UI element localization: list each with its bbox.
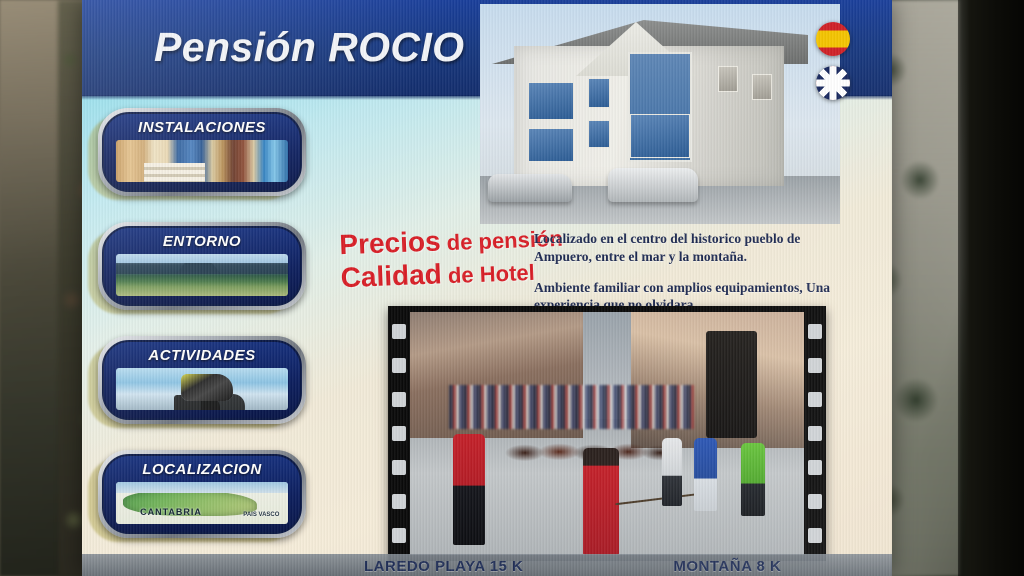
bottom-info-strip: LAREDO PLAYA 15 KMONTAÑA 8 K [82, 554, 892, 576]
window [588, 78, 610, 108]
window [528, 82, 574, 120]
pill-inner: LOCALIZACION CANTABRIA PAIS VASCO [102, 454, 302, 534]
map-region-label: CANTABRIA [140, 507, 202, 517]
pill-frame: INSTALACIONES [98, 108, 306, 196]
bottom-strip-text: LAREDO PLAYA 15 KMONTAÑA 8 K [364, 558, 781, 575]
doorway [706, 331, 757, 438]
building-photo [480, 4, 840, 224]
price-headline-rest2: de Hotel [441, 260, 535, 289]
runner-green-shirt [741, 443, 765, 516]
pill-inner: ENTORNO [102, 226, 302, 306]
bottom-strip-right-text: MONTAÑA 8 K [673, 558, 781, 575]
parked-car [608, 168, 698, 202]
window [528, 128, 574, 162]
quad-bike-thumbnail [116, 368, 288, 410]
british-flag-icon[interactable] [816, 66, 850, 100]
price-headline-word-precios: Precios [339, 225, 441, 260]
page-title: Pensión ROCIO [154, 24, 464, 71]
sidebar-item-instalaciones[interactable]: INSTALACIONES [98, 108, 306, 196]
price-headline: Precios de pensión Calidad de Hotel [339, 220, 565, 295]
pill-inner: ACTIVIDADES [102, 340, 302, 420]
filmstrip-sprockets-right [808, 314, 822, 553]
sidebar-item-actividades[interactable]: ACTIVIDADES [98, 336, 306, 424]
runner-white-shirt [662, 438, 682, 506]
cantabria-map-thumbnail: CANTABRIA PAIS VASCO [116, 482, 288, 524]
runner-red-shirt [583, 448, 618, 555]
spanish-flag-icon[interactable] [816, 22, 850, 56]
crowd [449, 385, 693, 429]
sidebar-nav: INSTALACIONES ENTORNO [98, 108, 324, 564]
sidebar-item-label: LOCALIZACION [104, 461, 300, 478]
window [630, 114, 690, 158]
pill-frame: LOCALIZACION CANTABRIA PAIS VASCO [98, 450, 306, 538]
map-neighbour-label: PAIS VASCO [243, 512, 279, 518]
window [752, 74, 772, 100]
sidebar-item-entorno[interactable]: ENTORNO [98, 222, 306, 310]
runner-blue-shirt [694, 438, 718, 511]
pill-frame: ACTIVIDADES [98, 336, 306, 424]
photographed-information-sign: Pensión ROCIO [0, 0, 1024, 576]
parked-car [488, 174, 572, 202]
window [588, 120, 610, 148]
language-selector[interactable] [804, 22, 862, 110]
right-dark-post [958, 0, 1024, 576]
sidebar-item-label: INSTALACIONES [104, 119, 300, 136]
bull-running-photo [410, 312, 804, 555]
filmstrip-sprockets-left [392, 314, 406, 553]
mountain-landscape-thumbnail [116, 254, 288, 296]
hotel-interior-thumbnail [116, 140, 288, 182]
runner-red-hoodie [453, 434, 485, 546]
bottom-strip-left-text: LAREDO PLAYA 15 K [364, 558, 523, 575]
price-headline-word-calidad: Calidad [340, 258, 442, 293]
sign-panel: Pensión ROCIO [82, 0, 892, 576]
sidebar-item-localizacion[interactable]: LOCALIZACION CANTABRIA PAIS VASCO [98, 450, 306, 538]
pill-inner: INSTALACIONES [102, 112, 302, 192]
description-paragraph-location: Localizado en el centro del historico pu… [534, 230, 854, 266]
sidebar-item-label: ENTORNO [104, 233, 300, 250]
pill-frame: ENTORNO [98, 222, 306, 310]
sidebar-item-label: ACTIVIDADES [104, 347, 300, 364]
window [718, 66, 738, 92]
filmstrip-photo-frame [388, 306, 826, 561]
